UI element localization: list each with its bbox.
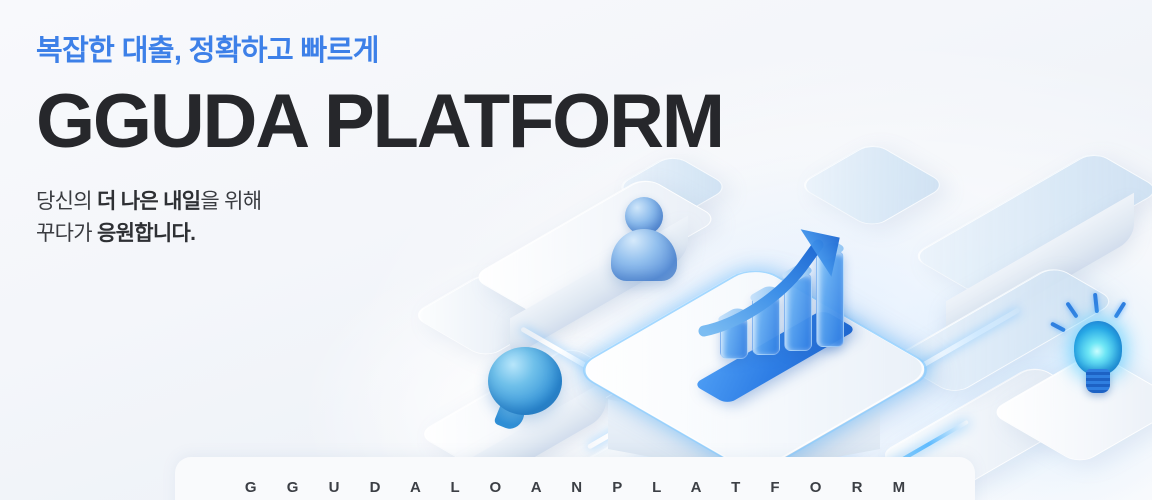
lightbulb-glass [1074,321,1122,375]
subcopy-line2-light: 꾸다가 [36,222,97,245]
hero-subcopy: 당신의 더 나은 내일을 위해 꾸다가 응원합니다. [36,186,866,250]
hero-banner: 복잡한 대출, 정확하고 빠르게 GGUDA PLATFORM 당신의 더 나은… [0,0,1152,500]
subcopy-line1-light: 당신의 [36,190,97,213]
bottom-label-card: G G U D A L O A N P L A T F O R M [175,457,975,500]
speech-bubble-body [488,347,562,415]
hero-subcopy-line1: 당신의 더 나은 내일을 위해 [36,186,866,218]
lightbulb-icon [1052,293,1140,413]
lightbulb-ray-2 [1065,301,1078,318]
subcopy-line2-bold: 응원합니다. [97,222,195,245]
hero-subcopy-line2: 꾸다가 응원합니다. [36,218,866,250]
speech-bubble-icon [488,347,562,433]
subcopy-line1-tail: 을 위해 [200,190,261,213]
lightbulb-ray-4 [1050,321,1066,332]
bottom-label-text: G G U D A L O A N P L A T F O R M [232,479,918,496]
bar-chart-3d-icon [698,233,878,393]
lightbulb-base [1086,369,1110,393]
lightbulb-ray-1 [1093,293,1099,313]
subcopy-line1-bold: 더 나은 내일 [97,190,200,213]
hero-tagline: 복잡한 대출, 정확하고 빠르게 [36,34,866,69]
hero-copy: 복잡한 대출, 정확하고 빠르게 GGUDA PLATFORM 당신의 더 나은… [36,34,866,250]
page-title: GGUDA PLATFORM [36,83,866,161]
lightbulb-ray-3 [1114,301,1127,318]
